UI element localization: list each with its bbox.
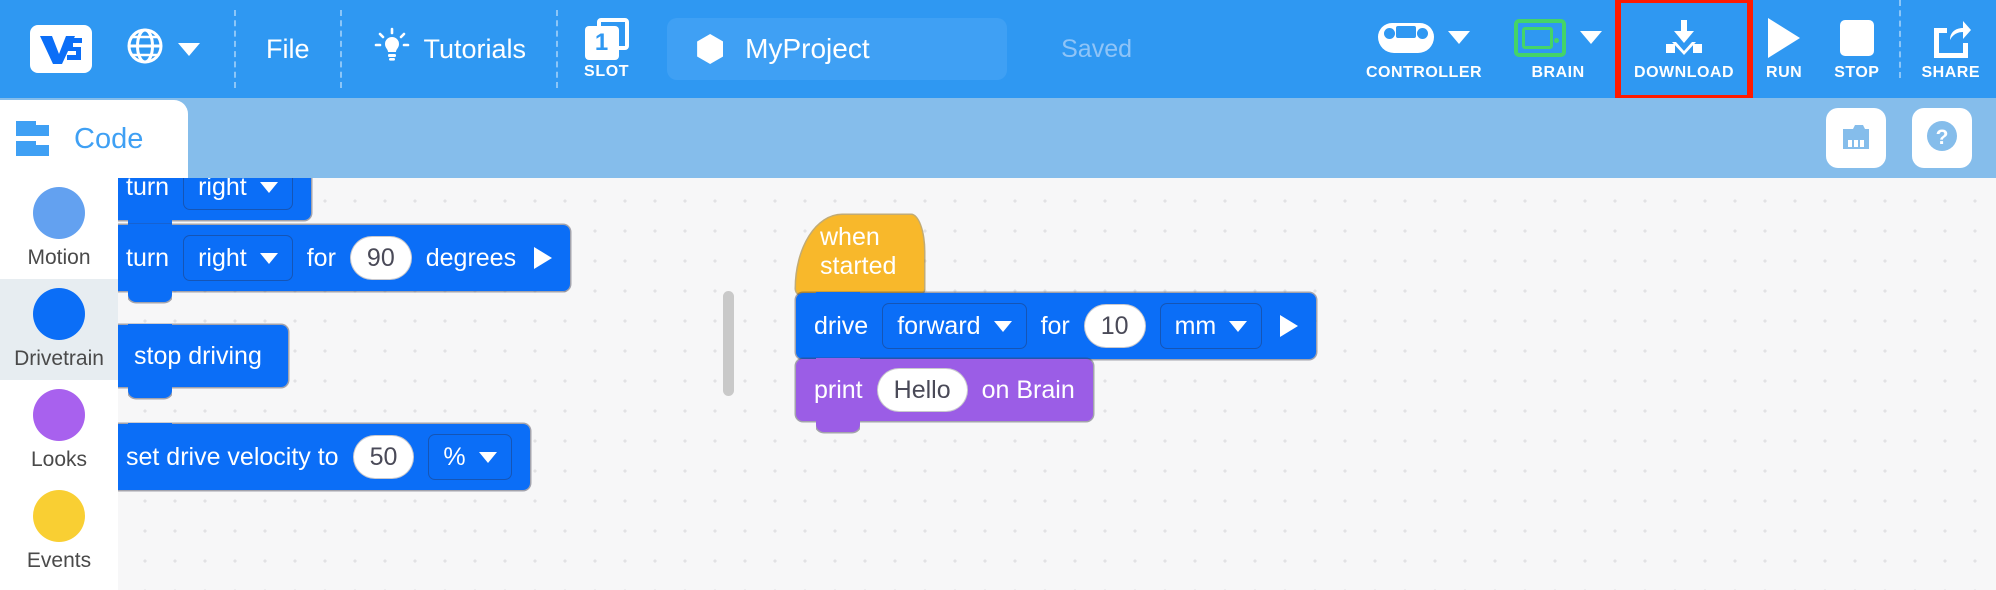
share-label: SHARE: [1921, 64, 1980, 82]
secondary-toolbar: [0, 98, 1996, 178]
chevron-down-icon: [479, 452, 497, 463]
sidebar-item-events[interactable]: Events: [0, 481, 118, 582]
language-selector[interactable]: [92, 0, 230, 98]
direction-value: forward: [897, 312, 980, 341]
workspace-block-drive-forward[interactable]: drive forward for 10 mm: [796, 293, 1316, 359]
brain-label: BRAIN: [1531, 64, 1584, 82]
sidebar-item-motion[interactable]: Motion: [0, 178, 118, 279]
direction-dropdown[interactable]: right: [183, 178, 293, 210]
palette-block-turn-right-for-degrees[interactable]: turn right for 90 degrees: [118, 225, 570, 291]
monitor-console-button[interactable]: [1826, 108, 1886, 168]
category-color-dot: [33, 187, 85, 239]
sidebar-item-label: Looks: [31, 448, 87, 472]
category-color-dot: [33, 288, 85, 340]
direction-dropdown[interactable]: right: [183, 235, 293, 281]
direction-value: right: [198, 178, 247, 202]
block-label: print: [814, 376, 863, 405]
chevron-down-icon: [178, 43, 200, 56]
chevron-down-icon: [994, 321, 1012, 332]
chevron-down-icon: [260, 253, 278, 264]
top-toolbar: File Tutorials 1 SLOT: [0, 0, 1996, 98]
svg-text:?: ?: [1936, 126, 1949, 149]
share-icon: [1930, 17, 1972, 59]
divider: [1899, 0, 1901, 78]
download-label: DOWNLOAD: [1634, 64, 1734, 82]
stop-button[interactable]: STOP: [1818, 0, 1895, 98]
category-color-dot: [33, 490, 85, 542]
tab-code-label: Code: [74, 123, 143, 156]
sidebar-item-label: Drivetrain: [14, 347, 104, 371]
controller-button[interactable]: CONTROLLER: [1350, 0, 1498, 98]
distance-input[interactable]: 10: [1084, 304, 1146, 348]
lightbulb-icon: [372, 26, 412, 73]
block-label-tail: on Brain: [982, 376, 1075, 405]
run-label: RUN: [1766, 64, 1802, 82]
sidebar-item-label: Motion: [27, 246, 90, 270]
download-button[interactable]: DOWNLOAD: [1618, 0, 1750, 98]
blocks-canvas[interactable]: turn right turn right for 90 degrees sto…: [118, 178, 1996, 590]
slot-icon: 1: [585, 18, 629, 60]
play-icon: [1768, 18, 1800, 58]
block-label-for: for: [307, 244, 336, 273]
file-menu[interactable]: File: [240, 0, 336, 98]
controller-label: CONTROLLER: [1366, 64, 1482, 82]
brain-button[interactable]: BRAIN: [1498, 0, 1618, 98]
project-name-field[interactable]: MyProject: [667, 18, 1007, 80]
question-mark-icon: ?: [1924, 118, 1960, 159]
run-block-icon[interactable]: [534, 247, 552, 269]
console-monitor-icon: [1839, 119, 1873, 158]
velocity-input[interactable]: 50: [353, 435, 415, 479]
chevron-down-icon: [1229, 321, 1247, 332]
chevron-down-icon: [260, 182, 278, 193]
block-label-for: for: [1041, 312, 1070, 341]
slot-number: 1: [585, 26, 619, 60]
chevron-down-icon[interactable]: [1448, 31, 1470, 44]
stop-label: STOP: [1834, 64, 1879, 82]
sidebar-item-label: Events: [27, 549, 91, 573]
workspace-block-when-started[interactable]: when started: [796, 215, 924, 295]
project-name-value: MyProject: [745, 33, 869, 65]
workspace-block-print-on-brain[interactable]: print Hello on Brain: [796, 359, 1093, 421]
category-color-dot: [33, 389, 85, 441]
save-status: Saved: [1061, 35, 1132, 64]
file-menu-label: File: [266, 34, 310, 65]
velocity-unit-value: %: [443, 443, 465, 472]
tutorials-label: Tutorials: [424, 34, 527, 65]
hexagon-icon: [697, 34, 723, 64]
sidebar-item-drivetrain[interactable]: Drivetrain: [0, 279, 118, 380]
divider: [234, 10, 236, 88]
chevron-down-icon[interactable]: [1580, 31, 1602, 44]
secondary-toolbar-actions: ?: [1826, 98, 1972, 178]
direction-dropdown[interactable]: forward: [882, 303, 1026, 349]
category-sidebar: Motion Drivetrain Looks Events: [0, 178, 118, 590]
divider: [556, 10, 558, 88]
toolbar-actions: CONTROLLER BRAIN DOWNLOAD RUN: [1350, 0, 1996, 98]
stop-icon: [1840, 20, 1874, 56]
code-blocks-icon: [14, 117, 62, 161]
slot-selector[interactable]: 1 SLOT: [562, 18, 651, 81]
divider: [340, 10, 342, 88]
globe-icon: [126, 27, 164, 72]
block-label: when started: [820, 223, 900, 281]
palette-block-set-drive-velocity[interactable]: set drive velocity to 50 %: [118, 424, 530, 490]
print-text-input[interactable]: Hello: [877, 368, 968, 412]
run-button[interactable]: RUN: [1750, 0, 1818, 98]
brain-icon: [1514, 19, 1566, 57]
block-label-unit: degrees: [426, 244, 516, 273]
gamepad-icon: [1378, 23, 1434, 53]
direction-value: right: [198, 244, 247, 273]
distance-unit-value: mm: [1175, 312, 1217, 341]
block-label: turn: [126, 178, 169, 202]
vex-v5-logo[interactable]: [30, 25, 92, 73]
palette-block-turn-right[interactable]: turn right: [118, 178, 311, 220]
share-button[interactable]: SHARE: [1905, 0, 1996, 98]
tab-code[interactable]: Code: [0, 100, 188, 178]
help-button[interactable]: ?: [1912, 108, 1972, 168]
workspace-scrollbar[interactable]: [723, 291, 734, 396]
download-icon: [1660, 17, 1708, 59]
block-label: turn: [126, 244, 169, 273]
distance-unit-dropdown[interactable]: mm: [1160, 303, 1263, 349]
block-label: drive: [814, 312, 868, 341]
degrees-input[interactable]: 90: [350, 236, 412, 280]
tutorials-button[interactable]: Tutorials: [346, 0, 553, 98]
palette-block-stop-driving[interactable]: stop driving: [118, 325, 288, 387]
slot-label: SLOT: [584, 63, 629, 81]
block-label: set drive velocity to: [126, 443, 339, 472]
block-label: stop driving: [134, 342, 262, 371]
sidebar-item-looks[interactable]: Looks: [0, 380, 118, 481]
run-block-icon[interactable]: [1280, 315, 1298, 337]
velocity-unit-dropdown[interactable]: %: [428, 434, 511, 480]
